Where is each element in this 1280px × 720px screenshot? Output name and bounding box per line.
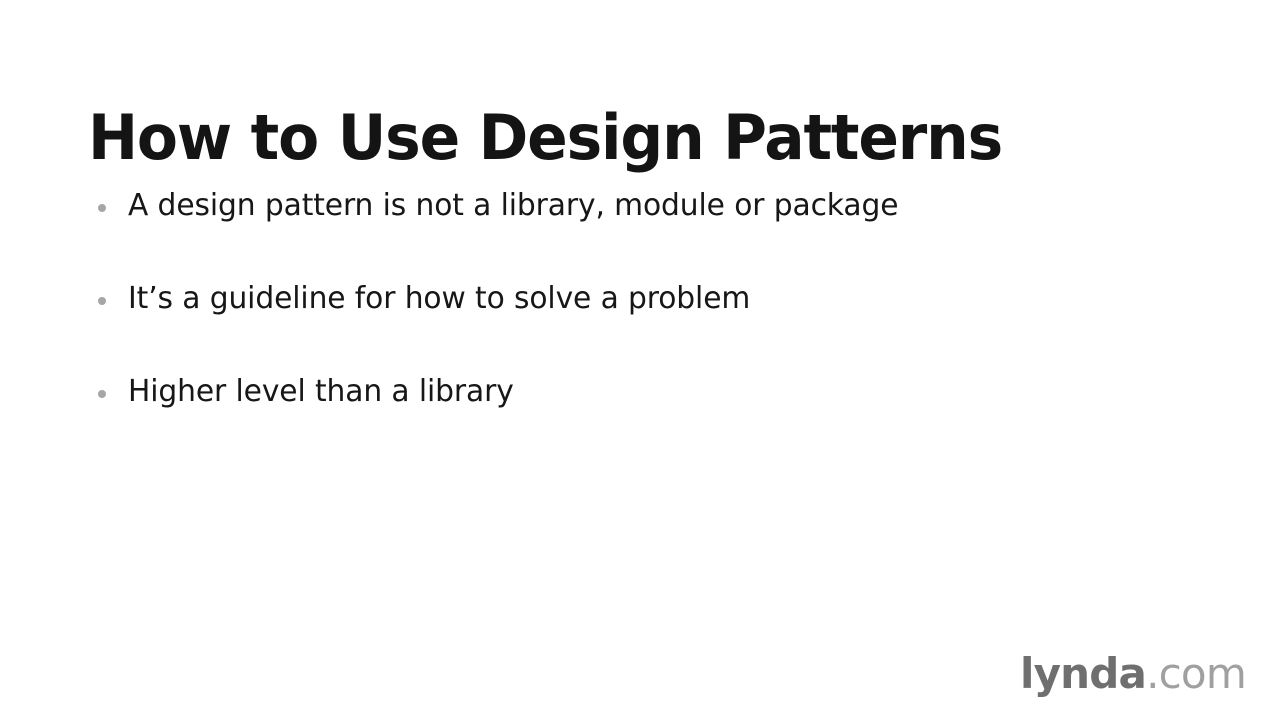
bullet-text: A design pattern is not a library, modul… (128, 186, 1148, 226)
logo-name: lynda (1020, 649, 1146, 698)
list-item: Higher level than a library (98, 372, 1158, 465)
bullet-list: A design pattern is not a library, modul… (98, 186, 1158, 465)
slide-canvas: How to Use Design Patterns A design patt… (0, 0, 1280, 720)
list-item: A design pattern is not a library, modul… (98, 186, 1158, 279)
dot-bullet-icon (98, 297, 106, 305)
page-title: How to Use Design Patterns (88, 105, 1002, 172)
bullet-text: It’s a guideline for how to solve a prob… (128, 279, 1148, 319)
list-item: It’s a guideline for how to solve a prob… (98, 279, 1158, 372)
logo-tld: .com (1146, 649, 1246, 698)
dot-bullet-icon (98, 204, 106, 212)
dot-bullet-icon (98, 390, 106, 398)
bullet-text: Higher level than a library (128, 372, 1148, 412)
lynda-logo: lynda.com (1020, 652, 1246, 696)
